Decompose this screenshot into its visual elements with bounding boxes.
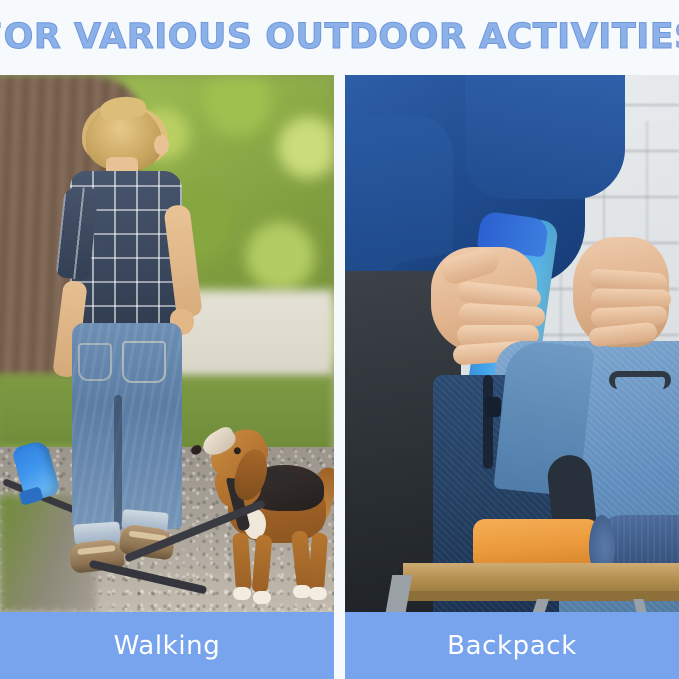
scene-walking-background [0,75,334,612]
page-title: FOR VARIOUS OUTDOOR ACTIVITIES [0,20,679,55]
scene-backpack-background [345,75,679,612]
dog-paw [253,591,271,604]
panel-divider [334,75,345,679]
dog-leg [252,534,273,593]
caption-backpack-label: Backpack [447,631,577,661]
photo-walking [0,75,334,612]
dog-leg [308,533,328,592]
panel-row: Walking [0,75,679,679]
sandal-strap [77,545,115,555]
dog-paw [233,587,251,600]
backpack-zipper [483,375,493,469]
jeans-leg-seam [114,395,122,531]
panel-backpack: Backpack [345,75,679,679]
caption-walking-label: Walking [114,631,221,661]
zipper-pull [485,397,501,417]
infographic-page: FOR VARIOUS OUTDOOR ACTIVITIES [0,0,679,679]
panel-walking: Walking [0,75,334,679]
backpack-top-handle [609,371,671,389]
boy-ear [154,135,169,155]
header-banner: FOR VARIOUS OUTDOOR ACTIVITIES [0,0,679,75]
caption-backpack: Backpack [345,612,679,679]
caption-walking: Walking [0,612,334,679]
orange-container [473,519,599,567]
jeans-pocket [78,343,112,381]
man-right-arm-sleeve [465,75,625,199]
photo-backpack [345,75,679,612]
jeans-pocket [122,341,166,383]
dog-eye [233,446,242,455]
dog-paw [309,587,327,600]
dog-leg [232,533,252,592]
